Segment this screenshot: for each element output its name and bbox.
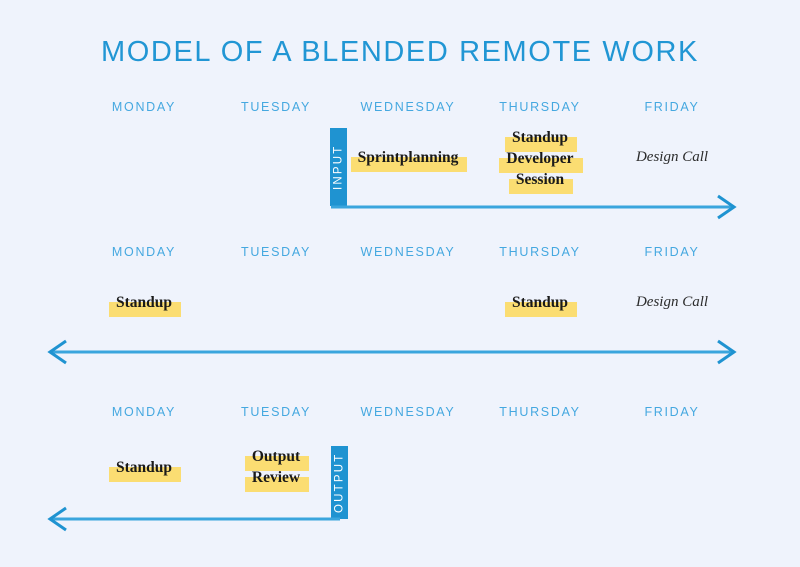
event-text: Review (249, 468, 303, 487)
page-title: MODEL OF A BLENDED REMOTE WORK (0, 36, 800, 69)
diagram-canvas: MODEL OF A BLENDED REMOTE WORK MONDAY TU… (0, 0, 800, 567)
timeline-arrow-row-3 (0, 505, 800, 535)
arrow-both-icon (0, 338, 800, 368)
event-text: Standup (509, 128, 571, 147)
event-text: Standup (509, 293, 571, 312)
timeline-row-2: MONDAY TUESDAY WEDNESDAY THURSDAY FRIDAY… (0, 245, 800, 375)
timeline-row-1: MONDAY TUESDAY WEDNESDAY THURSDAY FRIDAY… (0, 100, 800, 230)
event-block[interactable]: Design Call (606, 148, 738, 169)
event-block[interactable]: Design Call (606, 293, 738, 314)
event-text: Standup (113, 458, 175, 477)
event-block[interactable]: Sprintplanning (342, 148, 474, 169)
timeline-arrow-row-1 (0, 193, 800, 223)
event-block[interactable]: Standup Developer Session (474, 128, 606, 191)
event-text: Design Call (633, 293, 711, 312)
timeline-row-3: MONDAY TUESDAY WEDNESDAY THURSDAY FRIDAY… (0, 405, 800, 540)
arrow-left-icon (0, 505, 800, 535)
timeline-arrow-row-2 (0, 338, 800, 368)
event-text: Output (249, 447, 303, 466)
event-block[interactable]: Standup (78, 458, 210, 479)
arrow-right-icon (0, 193, 800, 223)
event-block[interactable]: Output Review (210, 447, 342, 489)
event-text: Standup (113, 293, 175, 312)
event-text: Design Call (633, 148, 711, 167)
event-text: Developer (503, 149, 576, 168)
event-text: Sprintplanning (355, 148, 462, 167)
event-block[interactable]: Standup (78, 293, 210, 314)
event-text: Session (513, 170, 567, 189)
event-block[interactable]: Standup (474, 293, 606, 314)
